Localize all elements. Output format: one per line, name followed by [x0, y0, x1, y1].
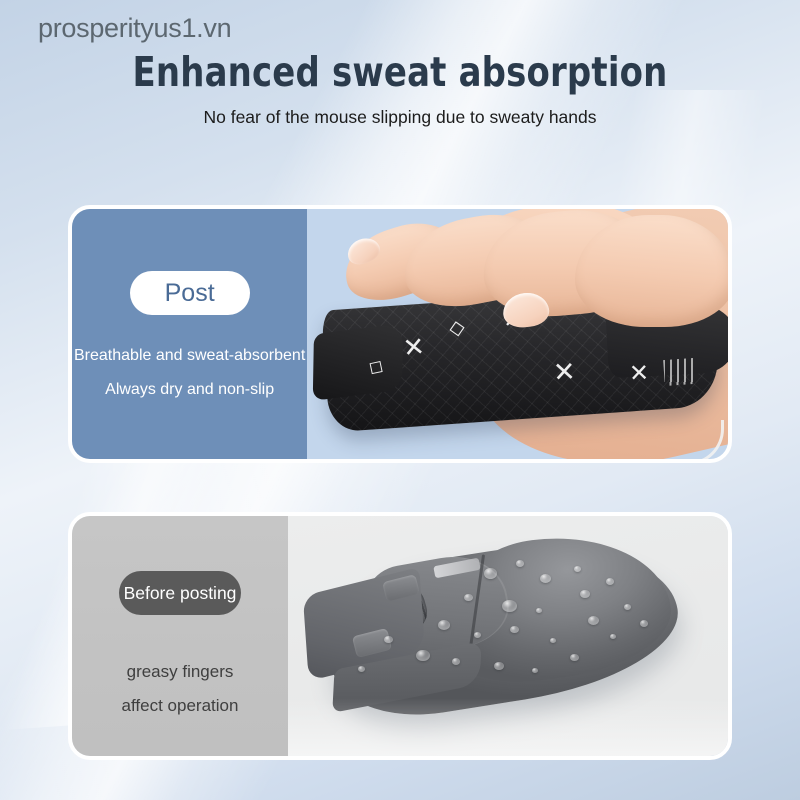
sweat-droplet — [588, 616, 599, 625]
sweat-droplet — [438, 620, 450, 630]
card-after-description: Breathable and sweat-absorbent Always dr… — [72, 339, 307, 407]
comparison-card-before: Before posting greasy fingers affect ope… — [68, 512, 732, 760]
watermark: prosperityus1.vn — [38, 13, 231, 44]
page-subtitle: No fear of the mouse slipping due to swe… — [0, 107, 800, 128]
sweat-droplet — [540, 574, 551, 583]
sweat-droplet — [536, 608, 542, 613]
sweat-droplet — [474, 632, 481, 638]
grip-glyph-4: ✕ — [553, 358, 577, 386]
card-after-photo: ✕ ◇ ✕ ✕ ✕ ◻ — [307, 209, 728, 459]
mouse-cable — [651, 420, 724, 459]
comparison-card-after: Post Breathable and sweat-absorbent Alwa… — [68, 205, 732, 463]
card-after-text-panel: Post Breathable and sweat-absorbent Alwa… — [72, 209, 307, 459]
sweat-droplet — [624, 604, 631, 610]
mouse-skin-front — [313, 323, 403, 401]
sweat-droplet — [610, 634, 616, 639]
hand-gripping-mouse-illustration: ✕ ◇ ✕ ✕ ✕ ◻ — [307, 209, 728, 459]
mouse-vent-lines — [663, 358, 695, 386]
card-before-line-2: affect operation — [74, 689, 286, 723]
sweat-droplet — [532, 668, 538, 673]
sweat-droplet — [452, 658, 460, 665]
sweat-droplet — [550, 638, 556, 643]
sweat-droplet — [606, 578, 614, 585]
badge-before-posting: Before posting — [119, 571, 241, 615]
grip-glyph-1: ✕ — [402, 334, 426, 362]
sweat-droplet — [516, 560, 524, 567]
card-before-text-panel: Before posting greasy fingers affect ope… — [72, 516, 288, 756]
sweat-droplet — [574, 566, 581, 572]
card-before-description: greasy fingers affect operation — [72, 655, 288, 723]
sweat-droplet — [358, 666, 365, 672]
grip-glyph-5: ✕ — [629, 361, 650, 386]
finger-4 — [575, 215, 728, 327]
page-title: Enhanced sweat absorption — [32, 48, 768, 96]
card-before-line-1: greasy fingers — [74, 655, 286, 689]
sweat-droplet — [640, 620, 648, 627]
card-after-line-2: Always dry and non-slip — [74, 373, 305, 407]
badge-post: Post — [130, 271, 250, 315]
card-before-photo — [288, 516, 728, 756]
card-after-line-1: Breathable and sweat-absorbent — [74, 339, 305, 373]
sweat-droplet — [484, 568, 497, 579]
photo-floor-glow — [288, 698, 728, 756]
